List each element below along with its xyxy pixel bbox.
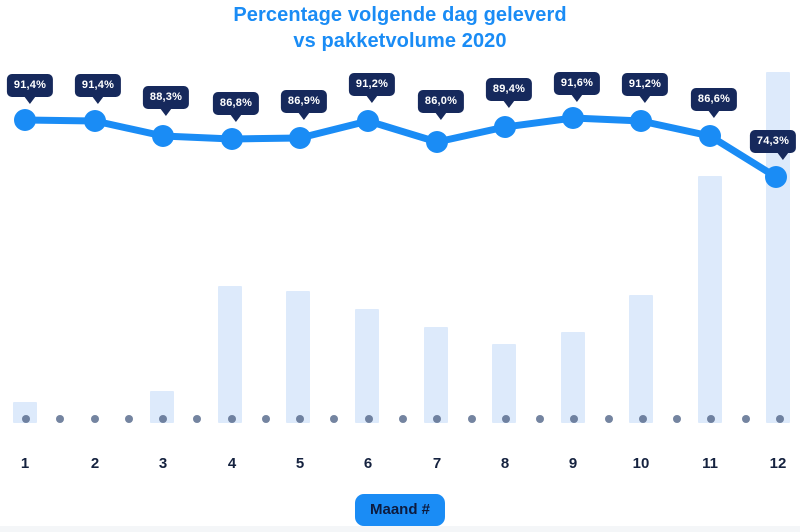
x-axis-title-pill[interactable]: Maand #	[355, 494, 445, 526]
line-marker-month-1[interactable]	[14, 109, 36, 131]
line-marker-month-10[interactable]	[630, 110, 652, 132]
line-path	[25, 118, 776, 177]
value-tooltip-label: 86,8%	[220, 97, 252, 109]
value-tooltip-month-5: 86,9%	[281, 90, 327, 113]
tooltip-tail-icon	[230, 114, 242, 122]
tooltip-tail-icon	[92, 96, 104, 104]
line-marker-month-3[interactable]	[152, 125, 174, 147]
value-tooltip-month-10: 91,2%	[622, 73, 668, 96]
tooltip-tail-icon	[503, 100, 515, 108]
line-marker-month-8[interactable]	[494, 116, 516, 138]
x-tick-label-11: 11	[702, 455, 718, 472]
value-tooltip-label: 91,6%	[561, 77, 593, 89]
line-series	[0, 0, 800, 440]
x-tick-label-10: 10	[633, 455, 650, 472]
x-tick-label-9: 9	[569, 455, 577, 472]
tooltip-tail-icon	[571, 94, 583, 102]
value-tooltip-label: 91,2%	[356, 78, 388, 90]
tooltip-tail-icon	[708, 110, 720, 118]
value-tooltip-label: 88,3%	[150, 91, 182, 103]
tooltip-tail-icon	[160, 108, 172, 116]
value-tooltip-month-1: 91,4%	[7, 74, 53, 97]
value-tooltip-label: 86,6%	[698, 93, 730, 105]
plot-area: 91,4% 91,4% 88,3% 86,8% 86,9% 91,2% 86,0…	[0, 0, 800, 440]
x-tick-label-4: 4	[228, 455, 236, 472]
value-tooltip-month-12: 74,3%	[750, 130, 796, 153]
x-tick-label-8: 8	[501, 455, 509, 472]
line-marker-month-6[interactable]	[357, 110, 379, 132]
value-tooltip-label: 91,2%	[629, 78, 661, 90]
value-tooltip-month-4: 86,8%	[213, 92, 259, 115]
tooltip-tail-icon	[366, 95, 378, 103]
value-tooltip-month-8: 89,4%	[486, 78, 532, 101]
x-tick-label-3: 3	[159, 455, 167, 472]
x-tick-label-2: 2	[91, 455, 99, 472]
value-tooltip-month-9: 91,6%	[554, 72, 600, 95]
tooltip-tail-icon	[298, 112, 310, 120]
chart-page: Percentage volgende dag geleverd vs pakk…	[0, 0, 800, 532]
x-tick-label-1: 1	[21, 455, 29, 472]
tooltip-tail-icon	[639, 95, 651, 103]
value-tooltip-label: 91,4%	[82, 79, 114, 91]
value-tooltip-label: 74,3%	[757, 135, 789, 147]
value-tooltip-label: 86,0%	[425, 95, 457, 107]
value-tooltip-month-3: 88,3%	[143, 86, 189, 109]
tooltip-tail-icon	[24, 96, 36, 104]
bottom-band	[0, 526, 800, 532]
x-tick-label-5: 5	[296, 455, 304, 472]
tooltip-tail-icon	[777, 152, 789, 160]
value-tooltip-month-6: 91,2%	[349, 73, 395, 96]
x-tick-label-6: 6	[364, 455, 372, 472]
value-tooltip-month-11: 86,6%	[691, 88, 737, 111]
line-marker-month-4[interactable]	[221, 128, 243, 150]
x-tick-label-7: 7	[433, 455, 441, 472]
value-tooltip-label: 89,4%	[493, 83, 525, 95]
tooltip-tail-icon	[435, 112, 447, 120]
line-marker-month-5[interactable]	[289, 127, 311, 149]
line-marker-month-9[interactable]	[562, 107, 584, 129]
value-tooltip-month-7: 86,0%	[418, 90, 464, 113]
x-tick-label-12: 12	[770, 455, 787, 472]
line-marker-month-2[interactable]	[84, 110, 106, 132]
value-tooltip-label: 91,4%	[14, 79, 46, 91]
value-tooltip-label: 86,9%	[288, 95, 320, 107]
line-marker-month-11[interactable]	[699, 125, 721, 147]
value-tooltip-month-2: 91,4%	[75, 74, 121, 97]
line-marker-month-12[interactable]	[765, 166, 787, 188]
line-marker-month-7[interactable]	[426, 131, 448, 153]
